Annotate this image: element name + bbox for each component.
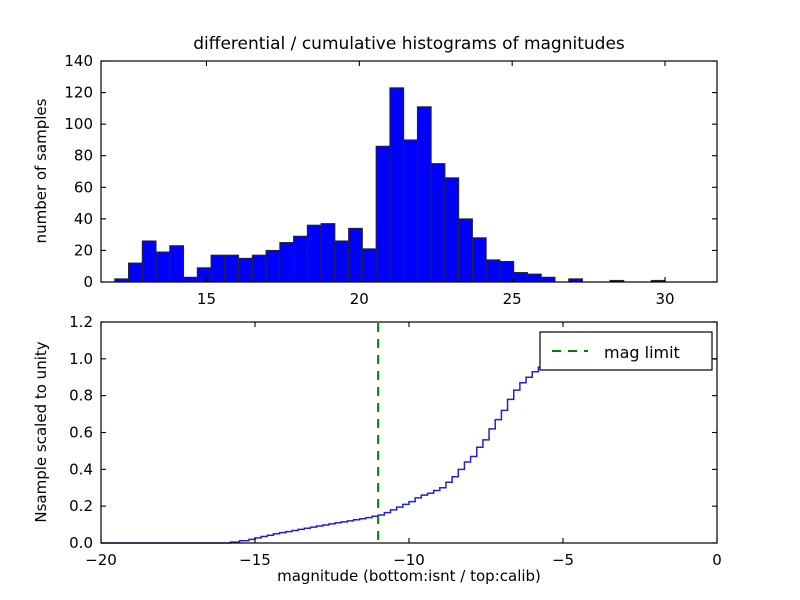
legend-label-mag-limit: mag limit bbox=[604, 343, 680, 362]
histogram-bar bbox=[472, 238, 486, 282]
x-tick-label: 0 bbox=[712, 551, 722, 569]
histogram-bar bbox=[335, 241, 349, 282]
histogram-bar bbox=[486, 260, 500, 282]
matplotlib-figure: differential / cumulative histograms of … bbox=[0, 0, 800, 600]
histogram-bar bbox=[362, 249, 376, 282]
figure-canvas: differential / cumulative histograms of … bbox=[0, 0, 800, 600]
y-tick-label: 40 bbox=[74, 210, 93, 228]
x-tick-label: 25 bbox=[503, 290, 522, 308]
y-tick-label: 60 bbox=[74, 178, 93, 196]
y-tick-label: 0.8 bbox=[69, 387, 93, 405]
histogram-bar bbox=[142, 241, 156, 282]
y-tick-label: 80 bbox=[74, 147, 93, 165]
y-tick-label: 0 bbox=[83, 273, 93, 291]
histogram-bar bbox=[280, 243, 294, 282]
histogram-bar bbox=[445, 178, 459, 282]
histogram-bar bbox=[307, 225, 321, 282]
bottom-y-axis-label: Nsample scaled to unity bbox=[32, 341, 50, 522]
y-tick-label: 1.0 bbox=[69, 350, 93, 368]
histogram-bar bbox=[156, 252, 170, 282]
y-tick-label: 100 bbox=[64, 115, 93, 133]
legend[interactable]: mag limit bbox=[540, 332, 712, 370]
y-tick-label: 0.4 bbox=[69, 460, 93, 478]
histogram-bar bbox=[294, 236, 308, 282]
x-tick-label: 20 bbox=[350, 290, 369, 308]
top-y-axis-label: number of samples bbox=[32, 98, 50, 243]
histogram-bar bbox=[349, 228, 363, 282]
histogram-bar bbox=[266, 250, 280, 282]
x-tick-label: 30 bbox=[655, 290, 674, 308]
histogram-bar bbox=[527, 274, 541, 282]
histogram-bar bbox=[514, 273, 528, 282]
x-tick-label: −5 bbox=[552, 551, 574, 569]
histogram-bar bbox=[197, 268, 211, 282]
histogram-bar bbox=[390, 88, 404, 282]
histogram-bar bbox=[184, 277, 198, 282]
histogram-bar bbox=[321, 224, 335, 282]
histogram-bar bbox=[129, 263, 143, 282]
histogram-bar bbox=[170, 246, 184, 282]
y-tick-label: 0.0 bbox=[69, 534, 93, 552]
histogram-bar bbox=[211, 255, 225, 282]
histogram-bar bbox=[417, 107, 431, 282]
histogram-bar bbox=[376, 146, 390, 282]
y-tick-label: 0.2 bbox=[69, 497, 93, 515]
y-tick-label: 0.6 bbox=[69, 424, 93, 442]
x-tick-label: −15 bbox=[239, 551, 271, 569]
x-axis-label: magnitude (bottom:isnt / top:calib) bbox=[277, 567, 541, 585]
histogram-bar bbox=[541, 277, 555, 282]
histogram-bar bbox=[225, 255, 239, 282]
histogram-bar bbox=[252, 255, 266, 282]
histogram-bar bbox=[431, 164, 445, 282]
top-panel: differential / cumulative histograms of … bbox=[32, 34, 717, 308]
y-tick-label: 1.2 bbox=[69, 313, 93, 331]
page-title: differential / cumulative histograms of … bbox=[193, 34, 625, 54]
y-tick-label: 20 bbox=[74, 241, 93, 259]
y-tick-label: 140 bbox=[64, 52, 93, 70]
histogram-bar bbox=[404, 140, 418, 282]
x-tick-label: −20 bbox=[85, 551, 117, 569]
y-tick-label: 120 bbox=[64, 84, 93, 102]
x-tick-label: 15 bbox=[197, 290, 216, 308]
histogram-bar bbox=[459, 219, 473, 282]
histogram-bar bbox=[239, 258, 253, 282]
